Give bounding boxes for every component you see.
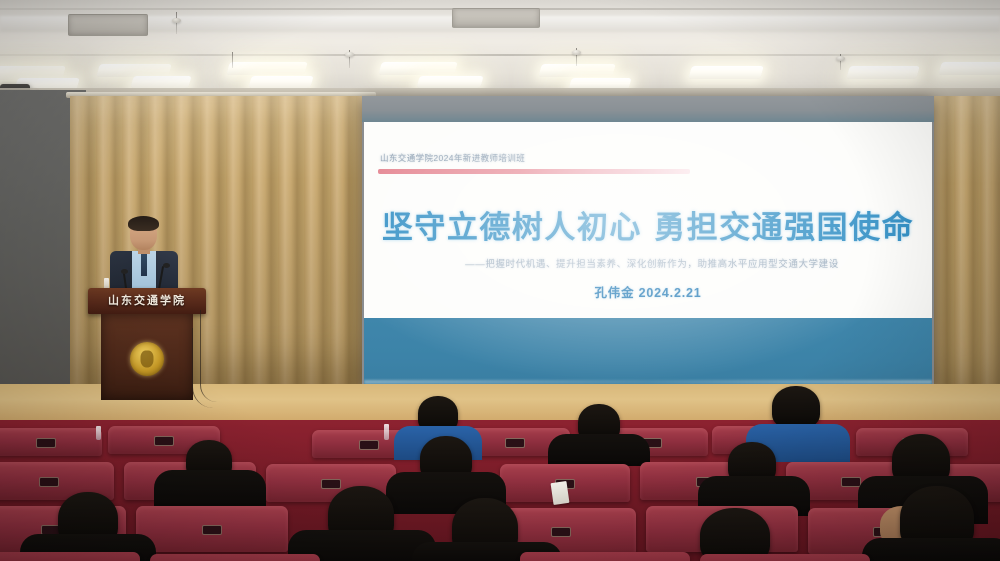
audience-shoulders <box>548 434 650 466</box>
slide-bottom-band <box>364 318 932 384</box>
ceiling-light-panel <box>416 76 483 88</box>
screen-top-frame <box>362 96 934 122</box>
microphone-head-icon <box>163 263 170 268</box>
smoke-detector-icon <box>572 50 581 55</box>
handout-paper <box>551 481 570 505</box>
ceiling <box>0 0 1000 100</box>
slide-subtitle: ——把握时代机遇、提升担当素养、深化创新作为，助推高水平应用型交通大学建设 <box>388 256 916 270</box>
table-row <box>0 428 102 456</box>
ceiling-light-panel <box>226 62 308 75</box>
auditorium-photo: 山东交通学院2024年新进教师培训班 坚守立德树人初心 勇担交通强国使命 ——把… <box>0 0 1000 561</box>
table-row <box>150 554 320 561</box>
audio-cable <box>192 328 213 408</box>
table-row <box>136 506 288 552</box>
ceiling-vent-icon <box>68 14 148 36</box>
audience-seating-area <box>0 420 1000 561</box>
audience-shoulders <box>862 538 1000 561</box>
ceiling-light-panel <box>688 66 764 79</box>
smoke-detector-icon <box>345 52 354 57</box>
presentation-slide: 山东交通学院2024年新进教师培训班 坚守立德树人初心 勇担交通强国使命 ——把… <box>364 122 932 384</box>
speaker-person <box>104 218 182 298</box>
podium-nameplate: 山东交通学院 <box>88 292 206 308</box>
audience-shoulders <box>154 470 266 510</box>
smoke-detector-icon <box>836 56 845 61</box>
ceiling-light-panel <box>938 62 1000 75</box>
stage-curtain-right <box>928 96 1000 412</box>
ceiling-vent-icon <box>452 8 540 28</box>
smoke-detector-icon <box>172 18 181 23</box>
table-row <box>700 554 870 561</box>
slide-header-rule <box>378 169 690 174</box>
university-crest-icon <box>130 342 164 376</box>
slide-author-and-date: 孔伟金 2024.2.21 <box>364 282 932 301</box>
microphone-head-icon <box>121 269 128 274</box>
slide-title: 坚守立德树人初心 勇担交通强国使命 <box>364 202 932 247</box>
ceiling-light-panel <box>538 64 616 77</box>
ceiling-light-panel <box>130 76 191 88</box>
projection-screen: 山东交通学院2024年新进教师培训班 坚守立德树人初心 勇担交通强国使命 ——把… <box>362 96 934 386</box>
water-bottle <box>384 424 389 440</box>
speaker-tie <box>141 254 147 276</box>
table-row <box>0 552 140 561</box>
water-bottle <box>96 426 101 440</box>
table-row <box>520 552 690 561</box>
slide-header-text: 山东交通学院2024年新进教师培训班 <box>380 152 525 164</box>
lectern-podium: 山东交通学院 <box>88 288 206 400</box>
ceiling-light-panel <box>248 76 313 88</box>
lectern-body <box>101 314 193 400</box>
ceiling-light-panel <box>846 66 920 79</box>
ceiling-light-panel <box>378 62 458 75</box>
speaker-hair <box>128 216 159 231</box>
lectern-top: 山东交通学院 <box>88 288 206 314</box>
audience-head <box>772 386 820 428</box>
